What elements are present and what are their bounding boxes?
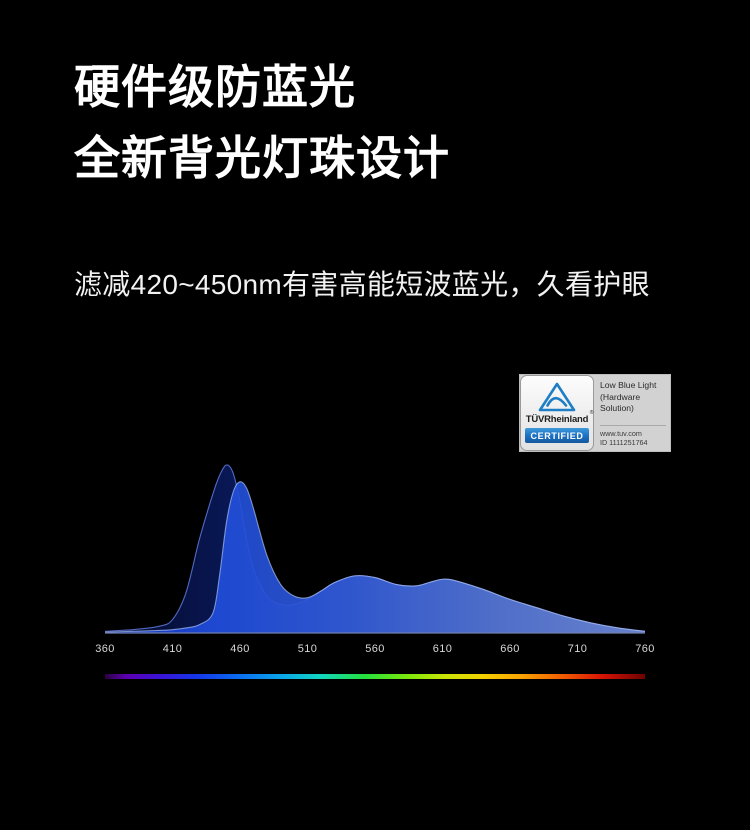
tuv-wordmark: TÜVRheinland® [526, 414, 589, 425]
tuv-rheinland-triangle-icon [537, 382, 577, 413]
headline-line-2: 全新背光灯珠设计 [74, 123, 450, 194]
badge-meta: www.tuv.com ID 1111251764 [600, 425, 666, 448]
tuv-rheinland-badge: TÜVRheinland® CERTIFIED Low Blue Light (… [519, 374, 671, 452]
spectrum-chart-svg [0, 455, 750, 655]
visible-spectrum-gradient-bar [105, 674, 645, 679]
x-axis-tick-660: 660 [500, 643, 520, 655]
headline-line-1: 硬件级防蓝光 [74, 52, 450, 123]
x-axis-tick-410: 410 [163, 643, 183, 655]
certified-label: CERTIFIED [525, 428, 589, 443]
x-axis-tick-560: 560 [365, 643, 385, 655]
chart-curves [105, 465, 645, 633]
registered-trademark-icon: ® [590, 410, 593, 416]
x-axis-tick-360: 360 [95, 643, 115, 655]
x-axis-tick-610: 610 [433, 643, 453, 655]
subtitle-text: 滤减420~450nm有害高能短波蓝光，久看护眼 [74, 262, 684, 307]
chart-x-axis: 360410460510560610660710760 [0, 643, 750, 663]
x-axis-tick-760: 760 [635, 643, 655, 655]
badge-claim-text: Low Blue Light (Hardware Solution) [600, 380, 666, 415]
badge-website: www.tuv.com [600, 429, 666, 439]
page-root: 硬件级防蓝光 全新背光灯珠设计 滤减420~450nm有害高能短波蓝光，久看护眼… [0, 0, 750, 830]
x-axis-tick-460: 460 [230, 643, 250, 655]
tuv-badge-details: Low Blue Light (Hardware Solution) www.t… [594, 375, 670, 451]
spectrum-chart [0, 455, 750, 655]
tuv-badge-seal: TÜVRheinland® CERTIFIED [520, 375, 594, 451]
x-axis-tick-710: 710 [568, 643, 588, 655]
badge-id: ID 1111251764 [600, 438, 666, 448]
page-title: 硬件级防蓝光 全新背光灯珠设计 [74, 52, 450, 195]
x-axis-tick-510: 510 [298, 643, 318, 655]
